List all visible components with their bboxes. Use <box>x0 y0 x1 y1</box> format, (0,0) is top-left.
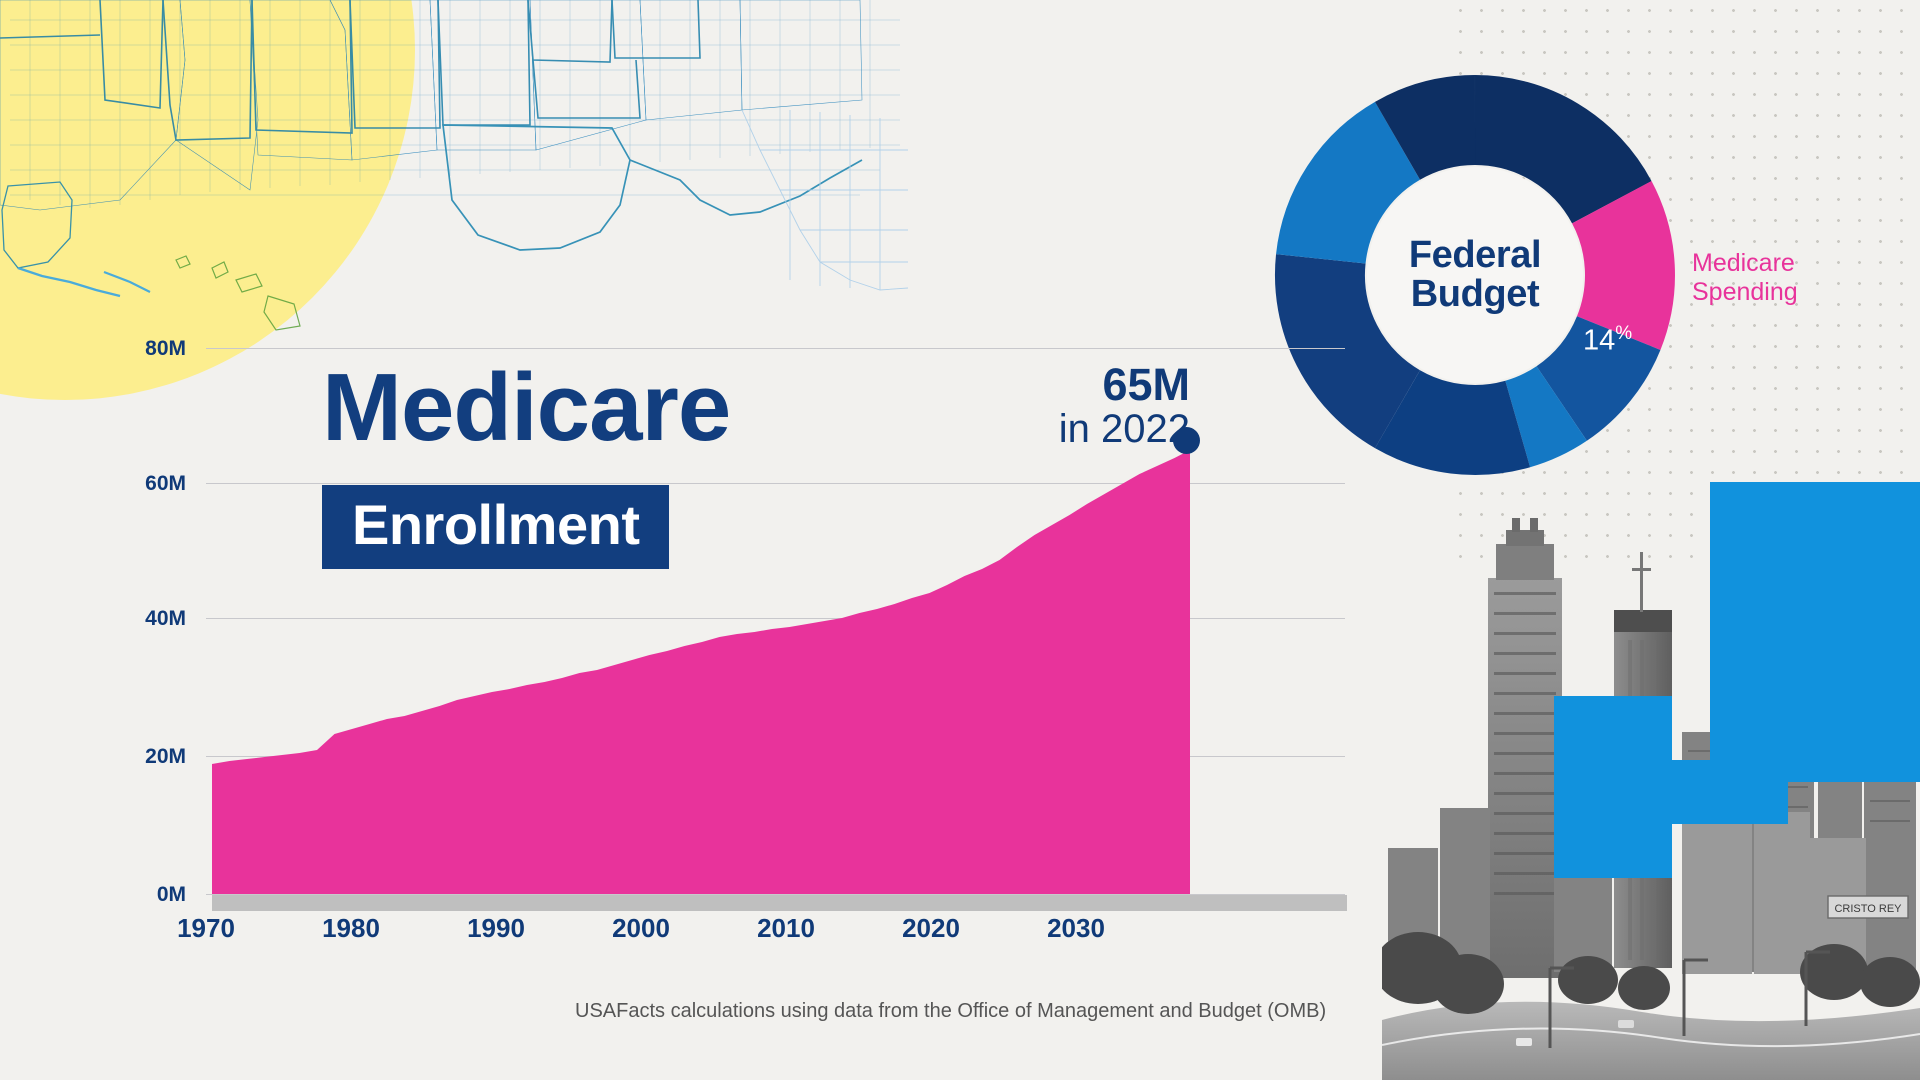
donut-percent-label: 14% <box>1583 323 1632 358</box>
svg-text:CRISTO REY: CRISTO REY <box>1834 903 1902 915</box>
donut-slice-8 <box>1398 120 1476 141</box>
xtick-1990: 1990 <box>436 913 556 944</box>
donut-percent-value: 14 <box>1583 325 1615 357</box>
callout-year: in 2022 <box>950 409 1190 451</box>
donut-slice-5 <box>1398 409 1518 430</box>
legend-line2: Spending <box>1692 278 1798 307</box>
xtick-1980: 1980 <box>291 913 411 944</box>
donut-slice-4 <box>1518 404 1562 425</box>
callout-value: 65M <box>950 362 1190 409</box>
subtitle-box: Enrollment <box>322 485 669 569</box>
skyline-blue-block-right <box>1710 482 1920 782</box>
infographic-canvas: CRISTO REY <box>0 0 1920 1080</box>
skyline-blue-block-mid <box>1668 760 1788 824</box>
legend-line1: Medicare <box>1692 249 1798 278</box>
medicare-spending-legend: Medicare Spending <box>1692 249 1798 307</box>
enrollment-callout: 65M in 2022 <box>950 362 1190 450</box>
xtick-2000: 2000 <box>581 913 701 944</box>
skyline-blue-block-left <box>1554 696 1672 878</box>
source-note: USAFacts calculations using data from th… <box>575 1000 1326 1023</box>
xtick-1970: 1970 <box>146 913 266 944</box>
xtick-2020: 2020 <box>871 913 991 944</box>
xtick-2030: 2030 <box>1016 913 1136 944</box>
enrollment-area-svg <box>0 0 1400 1020</box>
city-skyline-image: CRISTO REY <box>1382 460 1920 1080</box>
page-title: Medicare <box>322 360 730 456</box>
medicare-enrollment-chart: 80M 60M 40M 20M 0M 65M in 2022 1970 1980… <box>0 0 1400 1020</box>
xtick-2010: 2010 <box>726 913 846 944</box>
donut-percent-sign: % <box>1615 323 1632 344</box>
page-subtitle: Enrollment <box>352 493 639 556</box>
donut-slice-medicare <box>1612 202 1630 333</box>
